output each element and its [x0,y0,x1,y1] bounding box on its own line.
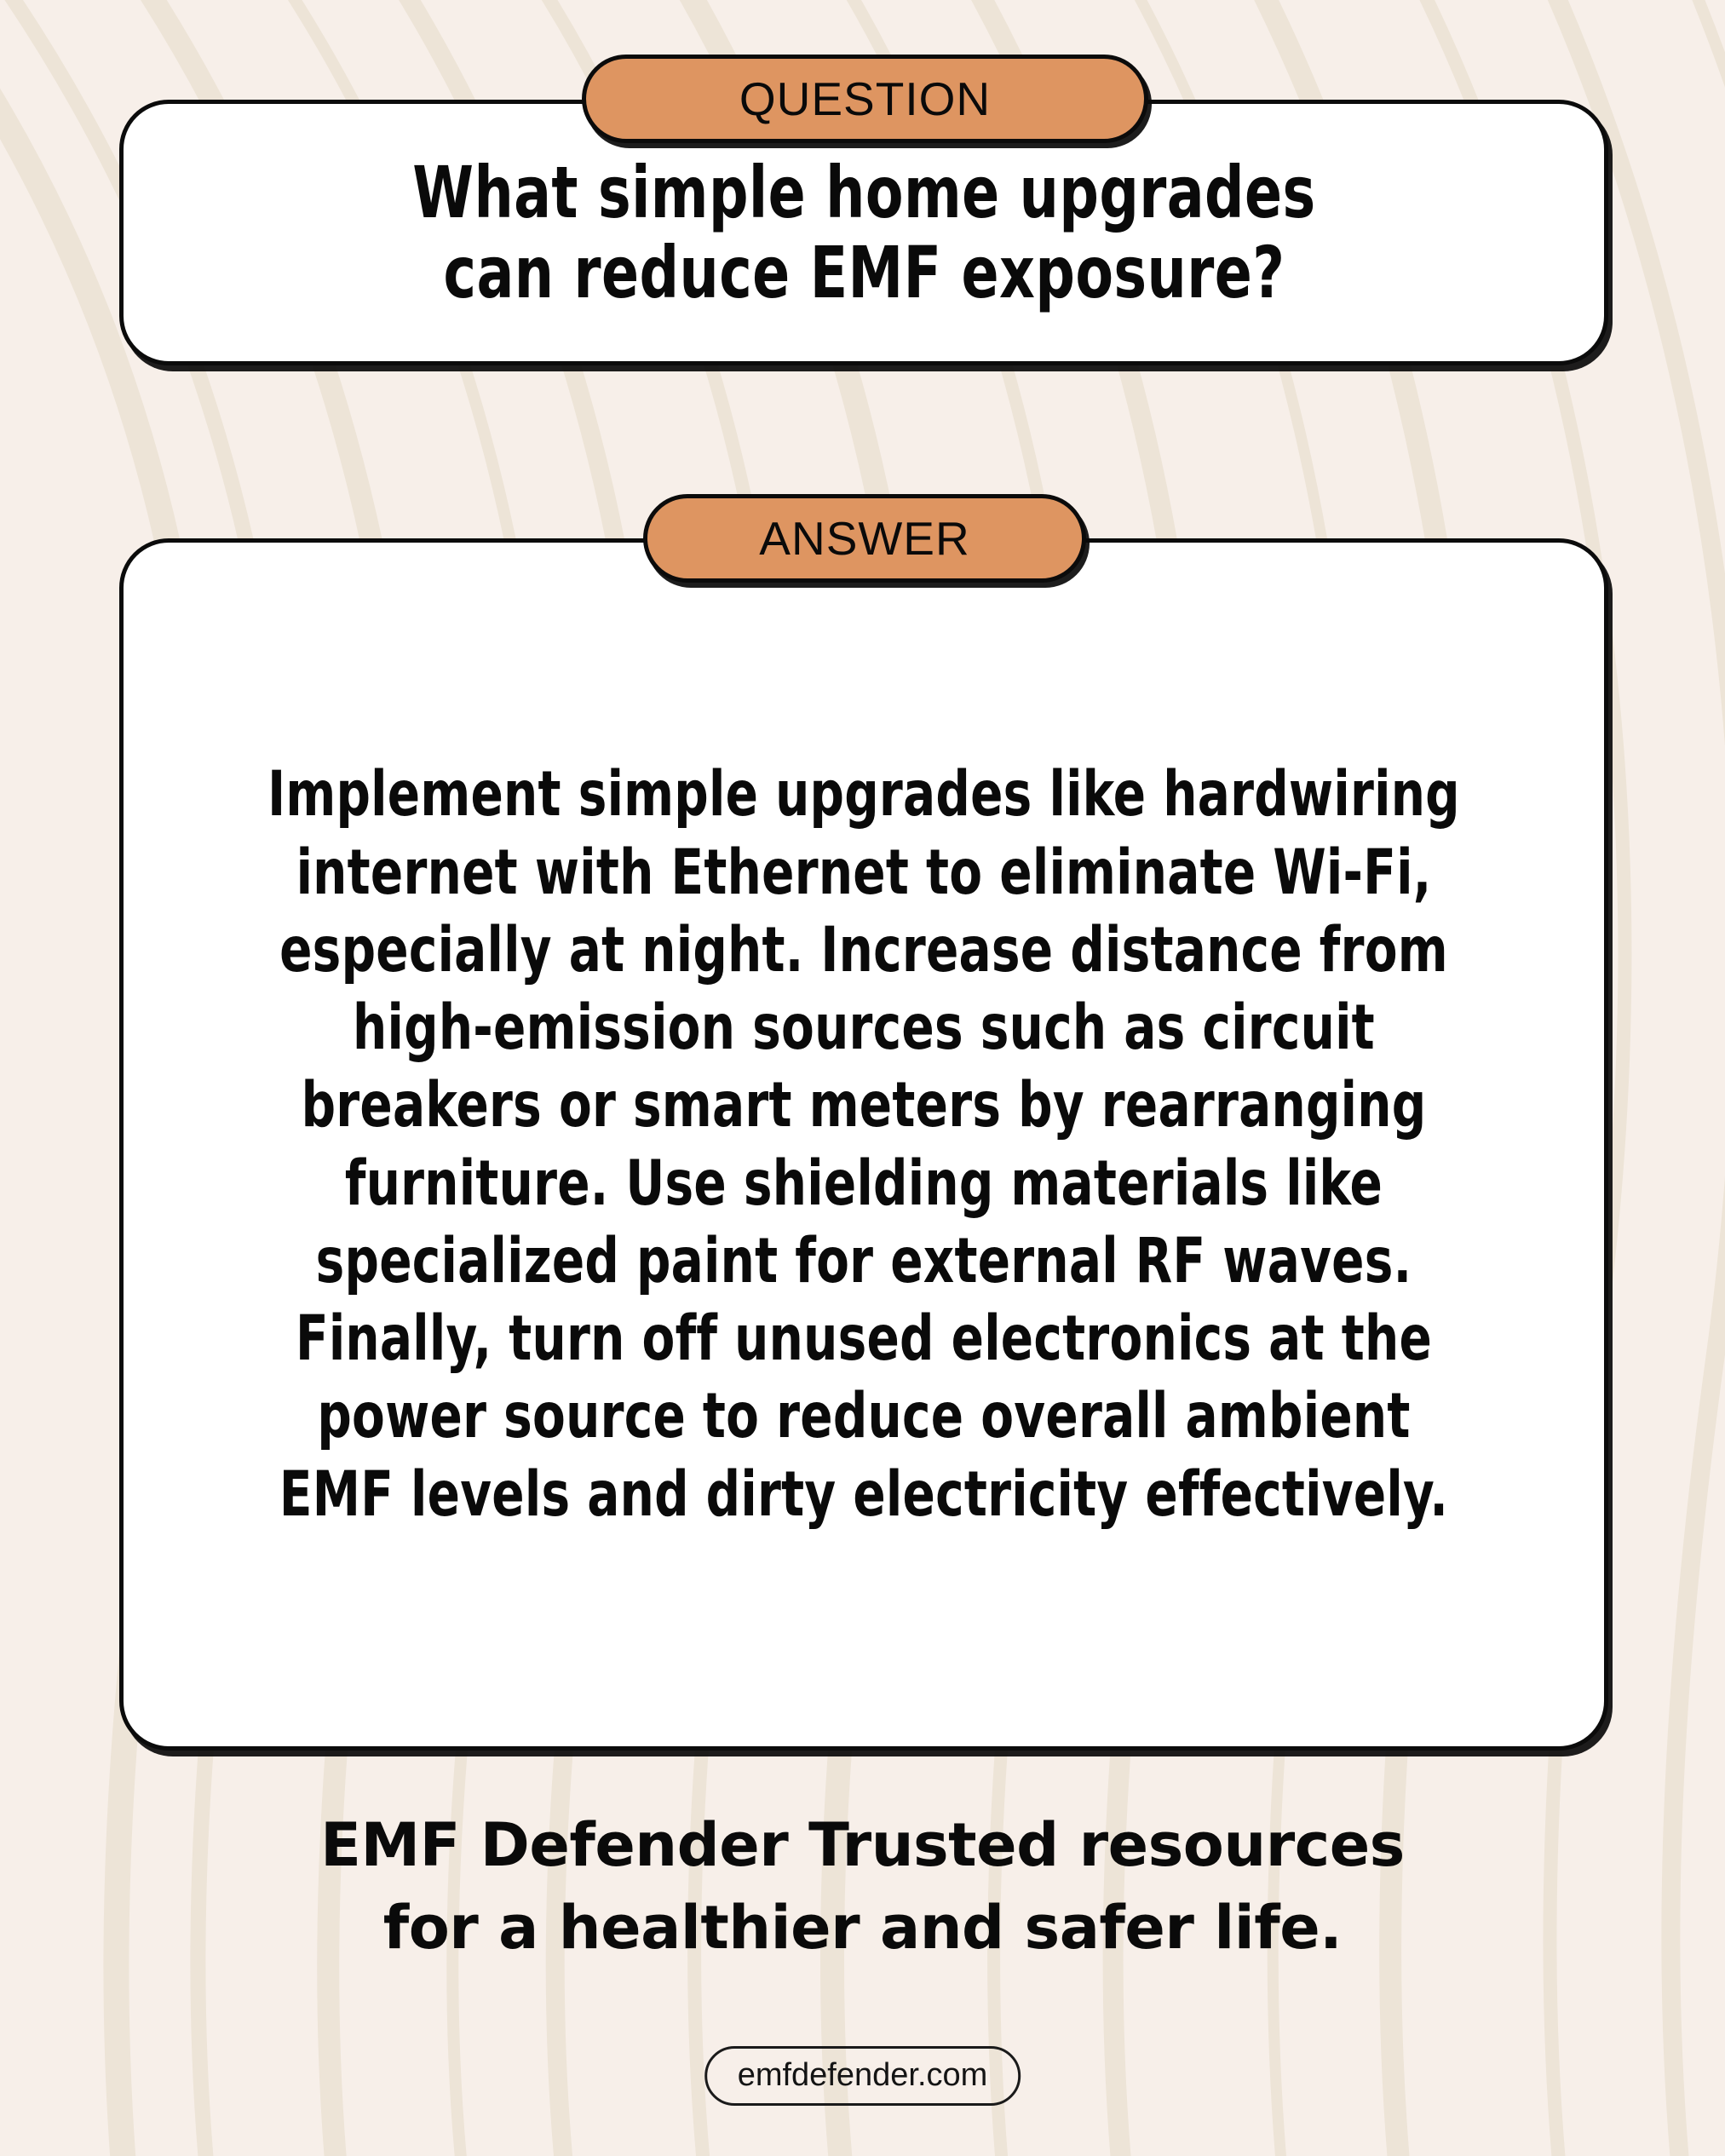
answer-text: Implement simple upgrades like hardwirin… [227,756,1501,1533]
answer-card: Implement simple upgrades like hardwirin… [119,538,1608,1751]
answer-badge-label: ANSWER [759,511,969,566]
question-text: What simple home upgrades can reduce EMF… [388,152,1341,313]
website-url-pill[interactable]: emfdefender.com [704,2046,1021,2106]
answer-badge: ANSWER [643,494,1086,583]
question-badge: QUESTION [582,55,1148,143]
infographic-card-page: What simple home upgrades can reduce EMF… [0,0,1725,2156]
question-badge-label: QUESTION [739,72,991,126]
footer-tagline: EMF Defender Trusted resources for a hea… [0,1804,1725,1969]
